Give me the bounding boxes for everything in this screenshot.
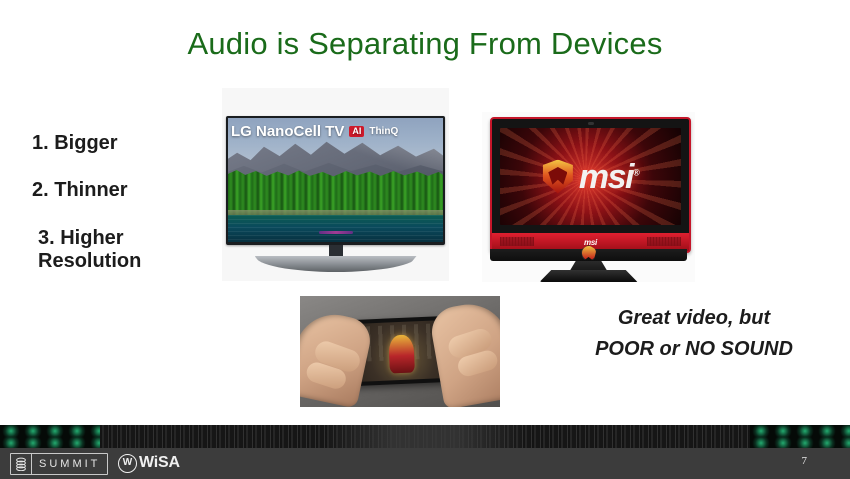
msi-monitor-image: msi® msi	[482, 112, 695, 282]
summit-stack-icon	[11, 454, 32, 474]
ai-badge: AI	[349, 126, 364, 137]
msi-wallpaper-logo: msi®	[500, 128, 681, 225]
tv-screen: LG NanoCell TV AI ThinQ	[228, 118, 443, 242]
msi-screen: msi®	[500, 128, 681, 225]
smartphone-gaming-image	[300, 296, 500, 407]
tv-led-strip	[319, 231, 353, 234]
caption-line-1: Great video, but	[548, 303, 840, 334]
speaker-vent-left-icon	[500, 237, 534, 246]
wisa-logo-text: WiSA	[139, 454, 180, 472]
feature-list: 1. Bigger 2. Thinner 3. Higher Resolutio…	[32, 132, 217, 298]
caption-line-2: POOR or NO SOUND	[548, 334, 840, 365]
wisa-mark-icon: W	[118, 454, 137, 473]
thinq-label: ThinQ	[369, 126, 398, 137]
msi-chin-label: msi	[584, 238, 597, 247]
summit-logo: SUMMIT	[10, 453, 108, 475]
tv-stand	[255, 256, 417, 272]
sound-caption: Great video, but POOR or NO SOUND	[548, 303, 840, 365]
wisa-logo: W WiSA	[118, 453, 180, 473]
msi-wordmark: msi®	[579, 160, 638, 194]
slide: Audio is Separating From Devices 1. Bigg…	[0, 0, 850, 479]
summit-logo-text: SUMMIT	[32, 454, 107, 474]
webcam-icon	[588, 122, 594, 125]
speaker-vent-right-icon	[647, 237, 681, 246]
band-center-fade	[323, 425, 527, 448]
lg-tv-image: LG NanoCell TV AI ThinQ	[222, 88, 449, 281]
msi-bezel: msi® msi	[490, 117, 691, 253]
msi-lower-chin	[490, 249, 687, 261]
tv-overlay-text: LG NanoCell TV AI ThinQ	[231, 123, 398, 140]
list-item: 3. Higher Resolution	[32, 227, 217, 274]
msi-dragon-shield-icon	[543, 160, 573, 194]
tv-scene-lake	[228, 215, 443, 242]
list-item: 1. Bigger	[32, 132, 217, 155]
game-character	[388, 334, 415, 373]
tv-brand-label: LG NanoCell TV	[231, 123, 344, 140]
msi-wordmark-text: msi	[579, 158, 633, 196]
msi-stand-base	[540, 270, 638, 282]
page-title: Audio is Separating From Devices	[0, 26, 850, 62]
list-item: 2. Thinner	[32, 179, 217, 202]
band-green-dots-left	[0, 425, 100, 448]
trademark-symbol: ®	[633, 167, 638, 177]
footer-decorative-band	[0, 425, 850, 448]
band-green-dots-right	[750, 425, 850, 448]
footer-bar: SUMMIT W WiSA	[0, 448, 850, 479]
page-number: 7	[802, 455, 808, 467]
tv-bezel: LG NanoCell TV AI ThinQ	[226, 116, 445, 245]
